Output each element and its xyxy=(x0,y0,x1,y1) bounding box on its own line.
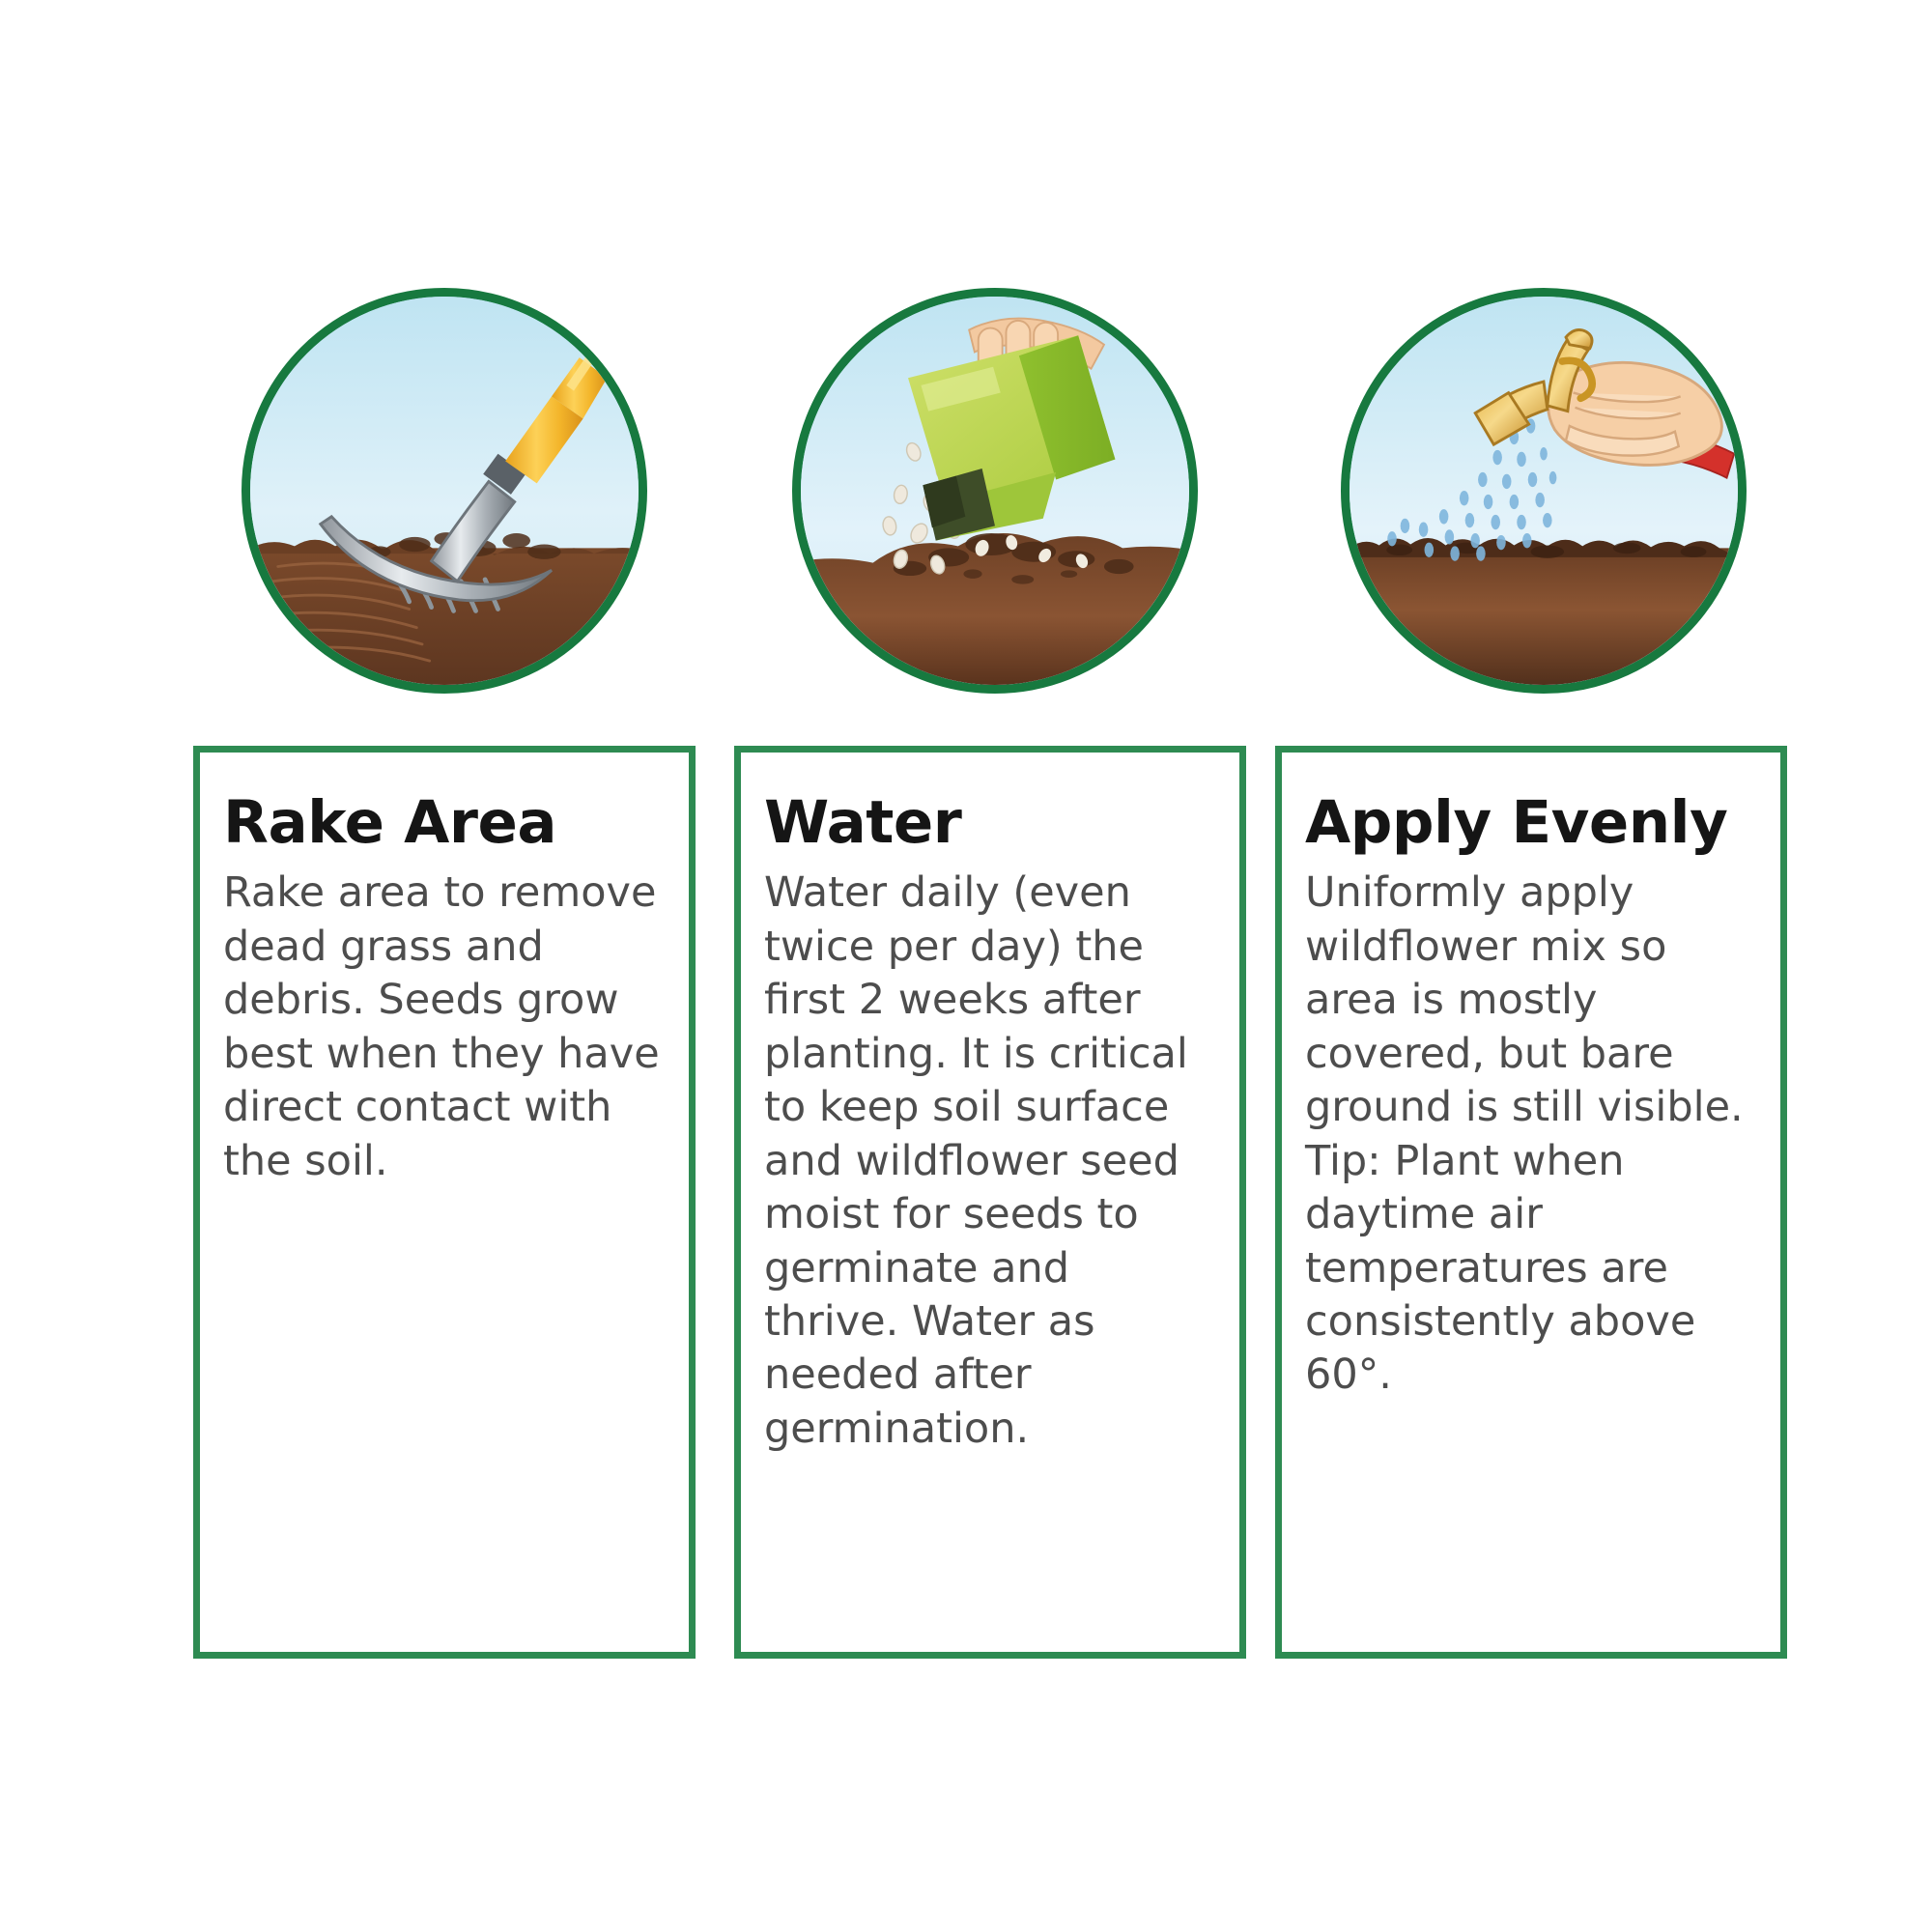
circle-frame-rake xyxy=(241,288,647,694)
circle-frame-seed-bag xyxy=(792,288,1198,694)
illustration-row xyxy=(193,288,1787,694)
infographic-board: Rake Area Rake area to remove dead grass… xyxy=(0,0,1932,1932)
rake-soil-icon xyxy=(250,297,639,685)
step-title: Rake Area xyxy=(223,793,666,853)
step-card-apply-evenly: Apply Evenly Uniformly apply wildflower … xyxy=(1275,746,1787,1659)
step-tip: Tip: Plant when daytime air temperatures… xyxy=(1305,1135,1757,1403)
step-description: Rake area to remove dead grass and debri… xyxy=(223,867,666,1188)
step-description: Water daily (even twice per day) the fir… xyxy=(764,867,1216,1456)
step-card-water: Water Water daily (even twice per day) t… xyxy=(734,746,1246,1659)
illustration-rake xyxy=(241,288,647,694)
step-title: Water xyxy=(764,793,1216,853)
watering-hose-icon xyxy=(1350,297,1738,685)
step-cards-row: Rake Area Rake area to remove dead grass… xyxy=(193,746,1787,1659)
seed-bag-spreading-icon xyxy=(801,297,1189,685)
illustration-watering xyxy=(1341,288,1747,694)
step-card-rake-area: Rake Area Rake area to remove dead grass… xyxy=(193,746,696,1659)
illustration-seed-bag xyxy=(792,288,1198,694)
step-title: Apply Evenly xyxy=(1305,793,1757,853)
circle-frame-watering xyxy=(1341,288,1747,694)
step-description: Uniformly apply wildflower mix so area i… xyxy=(1305,867,1757,1134)
